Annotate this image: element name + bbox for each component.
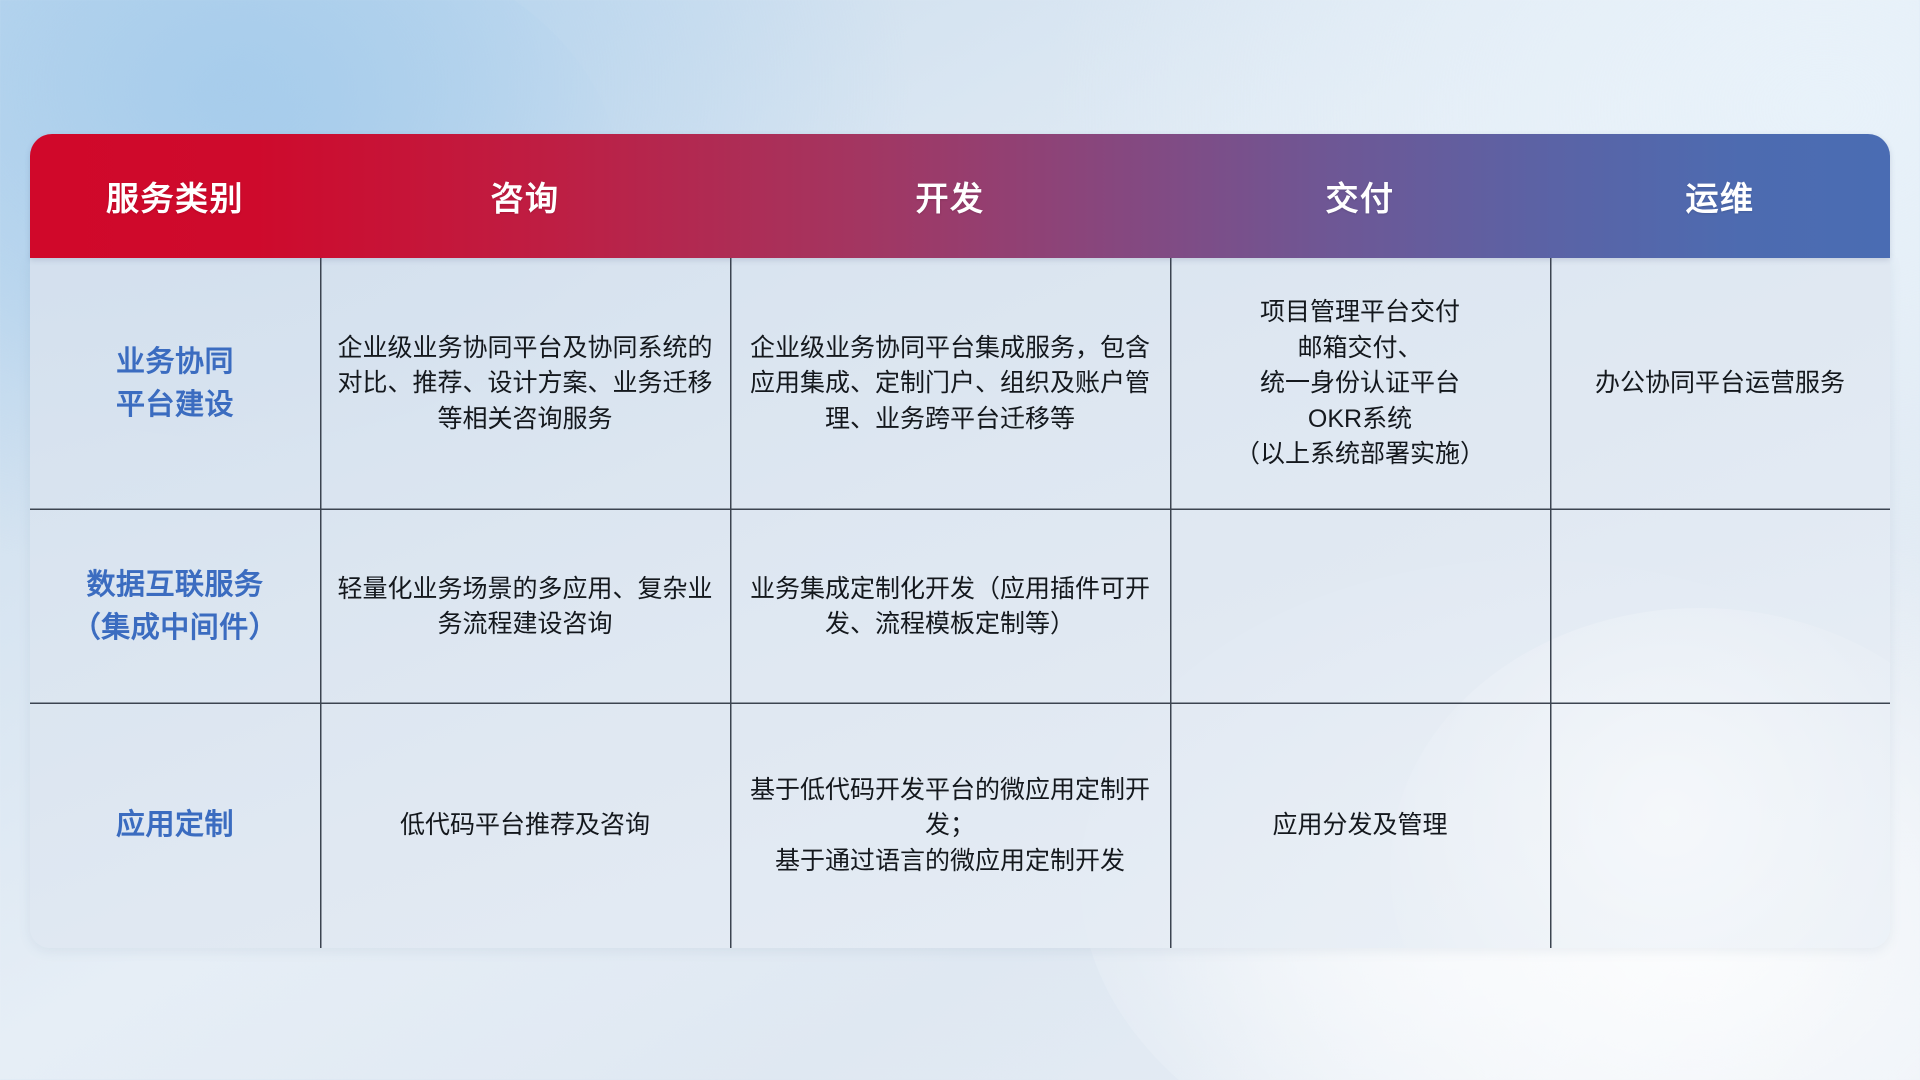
column-header-category: 服务类别	[30, 134, 320, 258]
column-header-delivery-label: 交付	[1326, 172, 1395, 220]
column-header-operations-label: 运维	[1686, 172, 1755, 220]
table-row: 应用定制 低代码平台推荐及咨询 基于低代码开发平台的微应用定制开发； 基于通过语…	[30, 704, 1890, 948]
cell-development-row1: 企业级业务协同平台集成服务，包含应用集成、定制门户、组织及账户管理、业务跨平台迁…	[730, 258, 1170, 510]
table-row: 数据互联服务 （集成中间件） 轻量化业务场景的多应用、复杂业务流程建设咨询 业务…	[30, 510, 1890, 704]
column-header-development-label: 开发	[916, 172, 985, 220]
cell-development-row2: 业务集成定制化开发（应用插件可开发、流程模板定制等）	[730, 510, 1170, 704]
slide-canvas: 服务类别 咨询 开发 交付 运维 业务协同 平台建设 企业级业务协同平台及协同系…	[0, 0, 1920, 1080]
column-header-delivery: 交付	[1170, 134, 1550, 258]
column-header-development: 开发	[730, 134, 1170, 258]
column-header-operations: 运维	[1550, 134, 1890, 258]
cell-development-row3: 基于低代码开发平台的微应用定制开发； 基于通过语言的微应用定制开发	[730, 704, 1170, 948]
cell-operations-row3	[1550, 704, 1890, 948]
cell-delivery-row3: 应用分发及管理	[1170, 704, 1550, 948]
service-matrix-table: 服务类别 咨询 开发 交付 运维 业务协同 平台建设 企业级业务协同平台及协同系…	[30, 134, 1890, 954]
cell-operations-row1: 办公协同平台运营服务	[1550, 258, 1890, 510]
column-header-category-label: 服务类别	[106, 172, 244, 220]
cell-consulting-row1: 企业级业务协同平台及协同系统的对比、推荐、设计方案、业务迁移等相关咨询服务	[320, 258, 730, 510]
table-body: 业务协同 平台建设 企业级业务协同平台及协同系统的对比、推荐、设计方案、业务迁移…	[30, 258, 1890, 948]
row-label-business-collaboration: 业务协同 平台建设	[30, 258, 320, 510]
row-label-app-customization: 应用定制	[30, 704, 320, 948]
table-row: 业务协同 平台建设 企业级业务协同平台及协同系统的对比、推荐、设计方案、业务迁移…	[30, 258, 1890, 510]
cell-delivery-row2	[1170, 510, 1550, 704]
table-header-row: 服务类别 咨询 开发 交付 运维	[30, 134, 1890, 258]
cell-operations-row2	[1550, 510, 1890, 704]
row-label-data-interconnect: 数据互联服务 （集成中间件）	[30, 510, 320, 704]
cell-consulting-row3: 低代码平台推荐及咨询	[320, 704, 730, 948]
cell-consulting-row2: 轻量化业务场景的多应用、复杂业务流程建设咨询	[320, 510, 730, 704]
cell-delivery-row1: 项目管理平台交付 邮箱交付、 统一身份认证平台 OKR系统 （以上系统部署实施）	[1170, 258, 1550, 510]
column-header-consulting-label: 咨询	[491, 172, 560, 220]
column-header-consulting: 咨询	[320, 134, 730, 258]
